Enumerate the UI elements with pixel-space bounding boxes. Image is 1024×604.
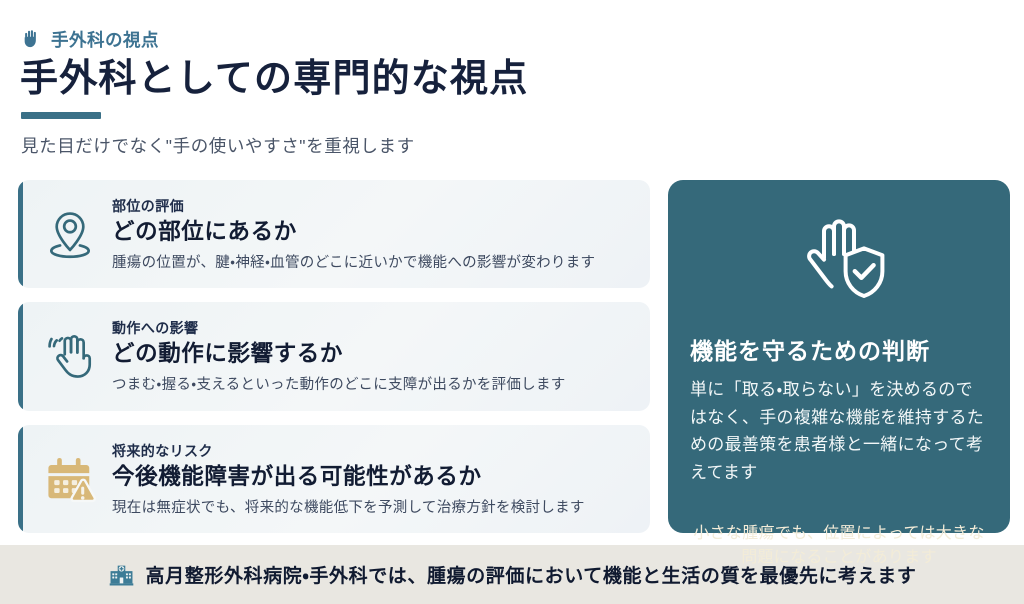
waving-hand-icon (42, 328, 98, 384)
point-card-location[interactable]: 部位の評価 どの部位にあるか 腫瘍の位置が、腱・神経・血管のどこに近いかで機能へ… (18, 180, 650, 288)
points-column: 部位の評価 どの部位にあるか 腫瘍の位置が、腱・神経・血管のどこに近いかで機能へ… (18, 180, 650, 533)
page-title: 手外科としての専門的な視点 (20, 58, 1008, 101)
highlight-body: 単に「取る・取らない」を決めるのではなく、手の複雑な機能を維持するための最善策を… (690, 376, 988, 486)
point-card-desc: 現在は無症状でも、将来的な機能低下を予測して治療方針を検討します (112, 496, 585, 517)
title-accent-rule (21, 112, 101, 119)
highlight-column: 機能を守るための判断 単に「取る・取らない」を決めるのではなく、手の複雑な機能を… (668, 180, 1010, 533)
page-subtitle: 見た目だけでなく"手の使いやすさ"を重視します (21, 133, 1008, 158)
highlight-title: 機能を守るための判断 (690, 332, 930, 366)
point-card-kicker: 動作への影響 (112, 318, 566, 338)
content-columns: 部位の評価 どの部位にあるか 腫瘍の位置が、腱・神経・血管のどこに近いかで機能へ… (18, 180, 1010, 533)
point-card-motion[interactable]: 動作への影響 どの動作に影響するか つまむ・握る・支えるといった動作のどこに支障… (18, 302, 650, 410)
point-card-future-risk[interactable]: 将来的なリスク 今後機能障害が出る可能性があるか 現在は無症状でも、将来的な機能… (18, 425, 650, 533)
slide-content: 手外科の視点 手外科としての専門的な視点 見た目だけでなく"手の使いやすさ"を重… (0, 0, 1024, 545)
slide-root: 手外科の視点 手外科としての専門的な視点 見た目だけでなく"手の使いやすさ"を重… (0, 0, 1024, 604)
highlight-panel: 機能を守るための判断 単に「取る・取らない」を決めるのではなく、手の複雑な機能を… (668, 180, 1010, 533)
point-card-title: どの部位にあるか (112, 218, 595, 245)
eyebrow-label: 手外科の視点 (51, 27, 159, 52)
point-card-title: どの動作に影響するか (112, 340, 566, 367)
point-card-text: 部位の評価 どの部位にあるか 腫瘍の位置が、腱・神経・血管のどこに近いかで機能へ… (112, 196, 595, 272)
point-card-text: 将来的なリスク 今後機能障害が出る可能性があるか 現在は無症状でも、将来的な機能… (112, 441, 585, 517)
eyebrow: 手外科の視点 (20, 26, 1008, 52)
point-card-title: 今後機能障害が出る可能性があるか (112, 463, 585, 490)
hand-shield-check-icon (787, 214, 891, 310)
highlight-icon-wrap (690, 214, 988, 310)
point-card-desc: つまむ・握る・支えるといった動作のどこに支障が出るかを評価します (112, 373, 566, 394)
point-card-kicker: 部位の評価 (112, 196, 595, 216)
point-card-text: 動作への影響 どの動作に影響するか つまむ・握る・支えるといった動作のどこに支障… (112, 318, 566, 394)
calendar-warning-icon (42, 451, 98, 507)
highlight-note: 小さな腫瘍でも、位置によっては大きな問題になることがあります (690, 522, 988, 570)
point-card-kicker: 将来的なリスク (112, 441, 585, 461)
location-pin-icon (42, 206, 98, 262)
hospital-icon (108, 561, 135, 588)
raised-hand-icon (20, 27, 42, 51)
point-card-desc: 腫瘍の位置が、腱・神経・血管のどこに近いかで機能への影響が変わります (112, 251, 595, 272)
